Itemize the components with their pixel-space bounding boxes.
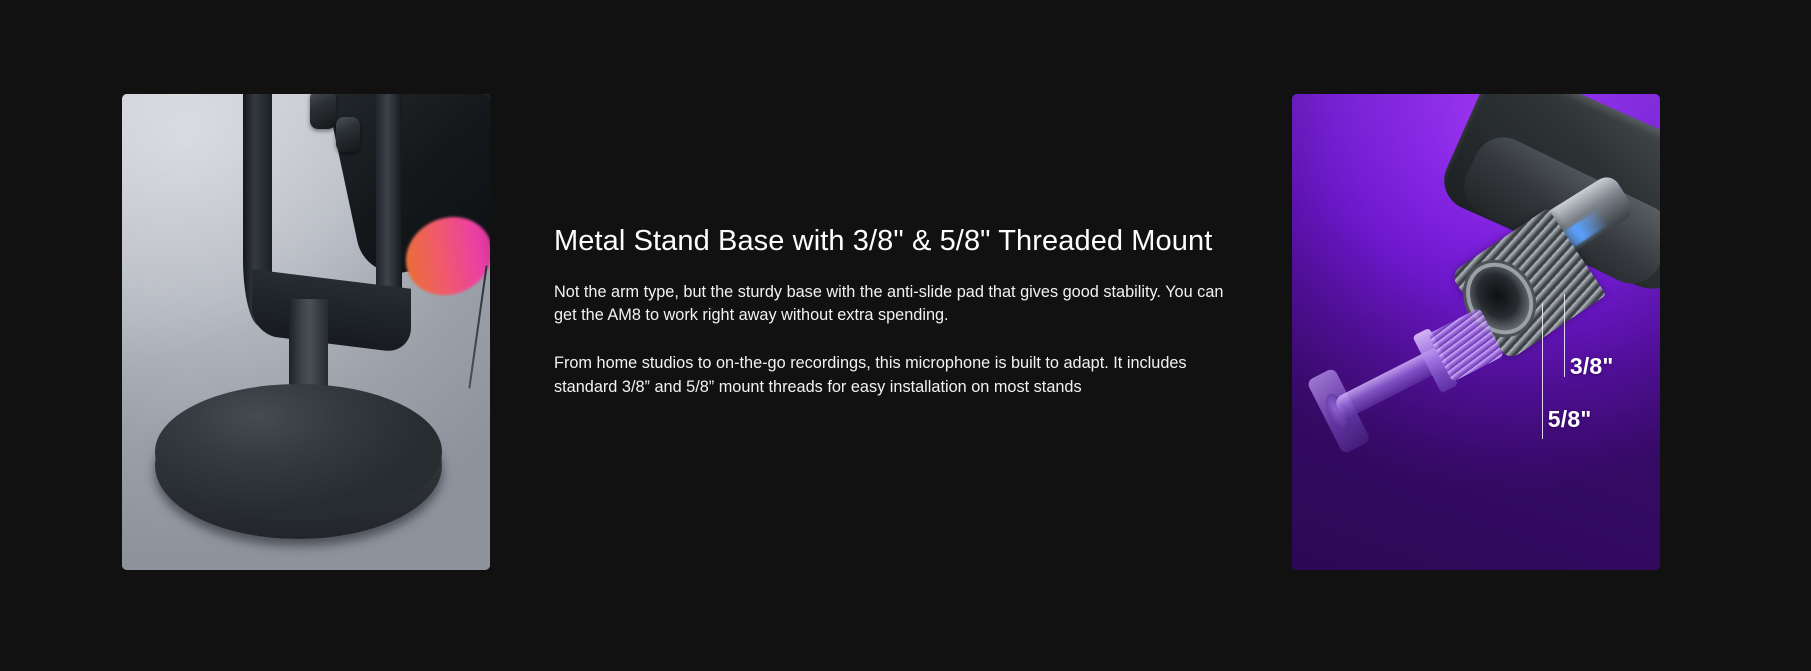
feature-paragraph-2: From home studios to on-the-go recording… [554,352,1230,400]
yoke-mount [221,94,442,380]
round-metal-base [155,392,442,540]
leader-line-three-eighths [1564,294,1566,377]
callout-five-eighths: 5/8" [1548,406,1592,433]
tension-knob-upper [310,94,336,129]
left-product-image: ine [122,94,490,570]
tension-knob-lower [336,117,360,152]
feature-paragraph-1: Not the arm type, but the sturdy base wi… [554,281,1230,329]
callout-three-eighths: 3/8" [1570,353,1614,380]
product-feature-section: ine Metal Stand Base with 3/8" & 5/8" Th… [0,0,1811,671]
feature-text-column: Metal Stand Base with 3/8" & 5/8" Thread… [554,224,1230,400]
feature-heading: Metal Stand Base with 3/8" & 5/8" Thread… [554,224,1230,259]
right-product-render: 3/8" 5/8" [1292,94,1660,570]
leader-line-five-eighths [1542,303,1544,439]
